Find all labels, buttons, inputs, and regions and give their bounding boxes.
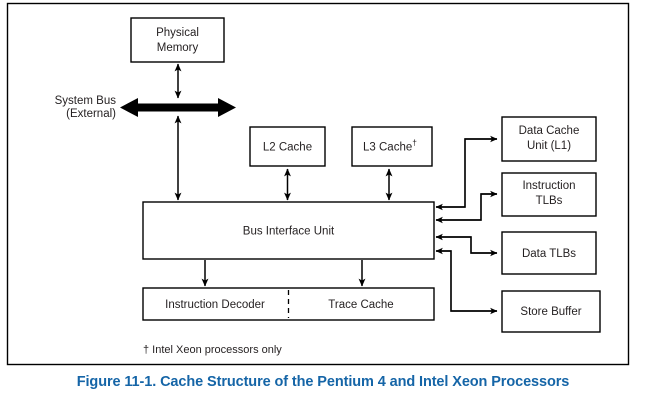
block-data-cache-unit [502,117,596,161]
block-physical-memory-label-line2: Memory [157,42,199,54]
block-physical-memory [131,18,224,62]
connector-biu-to-store-buffer-out [436,251,497,311]
block-trace-cache-label: Trace Cache [328,299,393,311]
figure-footnote: † Intel Xeon processors only [143,344,282,356]
block-l3-cache-dagger: † [412,138,417,148]
connector-system-bus-thick-arrow [120,98,236,117]
connector-store-buffer-to-biu-in [436,251,497,311]
connector-biu-to-data-cache-unit-out [436,139,497,207]
block-instruction-tlbs-label-line2: TLBs [536,195,563,207]
block-l2-cache-label: L2 Cache [263,142,312,154]
block-l3-cache-label: L3 Cache [363,142,412,154]
block-data-cache-unit-label-line1: Data Cache [519,125,580,137]
label-system-bus-line1: System Bus [55,95,117,107]
block-data-tlbs-label: Data TLBs [522,248,576,260]
block-instruction-decoder-label: Instruction Decoder [165,299,265,311]
figure-container: Physical Memory System Bus (External) L2… [0,0,646,405]
block-bus-interface-unit-label: Bus Interface Unit [243,226,335,238]
cache-structure-diagram: Physical Memory System Bus (External) L2… [0,0,646,405]
figure-caption: Figure 11-1. Cache Structure of the Pent… [0,374,646,390]
label-system-bus-line2: (External) [66,108,116,120]
block-instruction-tlbs-label-line1: Instruction [522,180,575,192]
block-data-cache-unit-label-line2: Unit (L1) [527,140,571,152]
connector-data-cache-unit-to-biu-in [436,139,497,207]
block-store-buffer-label: Store Buffer [520,306,581,318]
block-physical-memory-label-line1: Physical [156,27,199,39]
